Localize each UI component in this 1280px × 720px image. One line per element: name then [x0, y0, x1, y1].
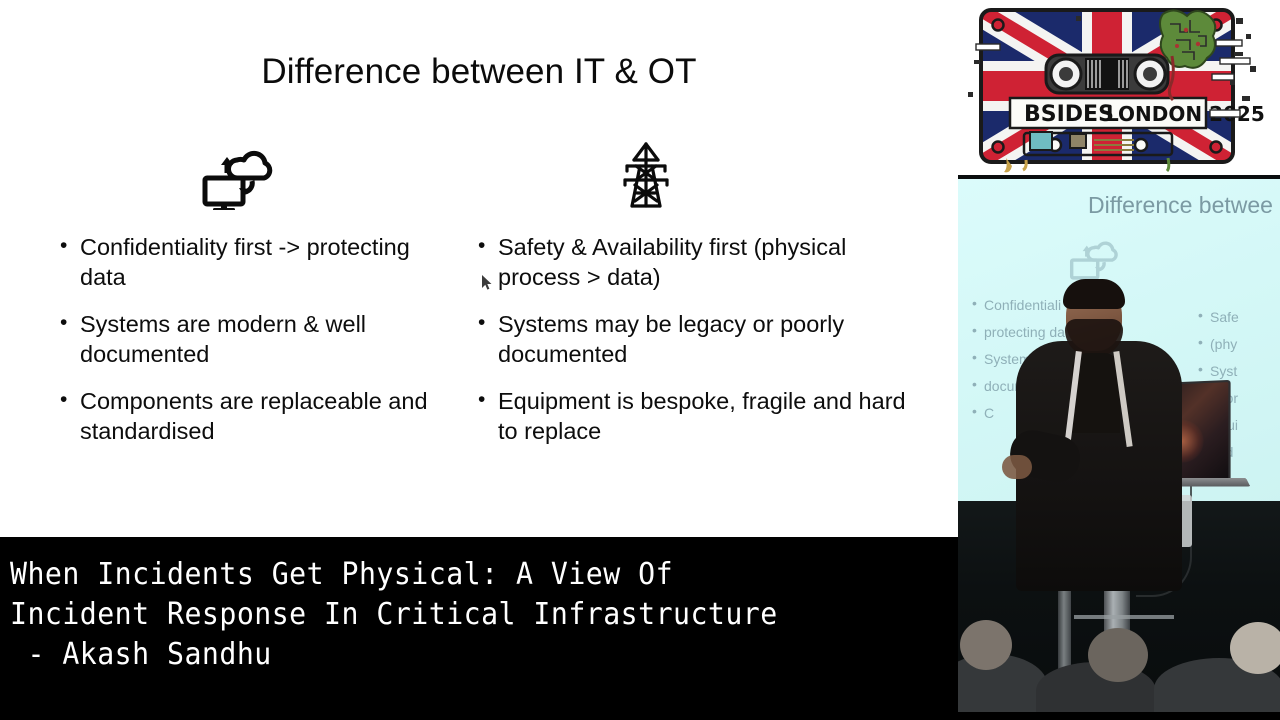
talk-title-caption-bar: When Incidents Get Physical: A View Of I… — [0, 537, 958, 720]
speaker-person — [1032, 283, 1170, 583]
slide-column-ot: Safety & Availability first (physical pr… — [470, 132, 910, 463]
caption-line-2: Incident Response In Critical Infrastruc… — [10, 595, 901, 635]
list-item: Safety & Availability first (physical pr… — [470, 232, 910, 292]
projected-slide-title: Difference betwee — [1088, 192, 1273, 219]
event-logo-panel: BSIDES LONDON 2025 — [958, 0, 1280, 175]
video-letterbox-bar — [958, 712, 1280, 720]
slide-bullet-list-ot: Safety & Availability first (physical pr… — [470, 232, 910, 446]
presentation-slide: Difference between IT & OT — [0, 0, 958, 537]
computer-cloud-sync-icon-wrap — [52, 132, 462, 218]
logo-text-bsides: BSIDES — [1024, 102, 1114, 127]
speaker-camera-feed: Difference betwee Confidentiali -> prote… — [958, 175, 1280, 720]
electricity-pylon-icon — [618, 140, 674, 210]
bsides-london-cassette-logo: BSIDES LONDON 2025 — [958, 0, 1280, 175]
list-item: Syst — [1196, 363, 1280, 380]
projected-computer-cloud-icon — [1068, 234, 1122, 282]
truss-brace — [1074, 615, 1174, 619]
logo-text-london-2025: LONDON 2025 — [1106, 102, 1265, 126]
slide-column-it: Confidentiality first -> protecting data… — [52, 132, 462, 463]
audience-head — [1088, 628, 1148, 682]
list-item: Systems may be legacy or poorly document… — [470, 309, 910, 369]
list-item: Components are replaceable and standardi… — [52, 386, 462, 446]
slide-title: Difference between IT & OT — [0, 52, 958, 92]
list-item: Confidentiality first -> protecting data — [52, 232, 462, 292]
slide-bullet-list-it: Confidentiality first -> protecting data… — [52, 232, 462, 446]
presentation-recording-frame: Difference between IT & OT — [0, 0, 1280, 720]
speaker-hand — [1002, 455, 1032, 479]
list-item: Safe — [1196, 309, 1280, 326]
list-item-cont: (phy — [1196, 336, 1280, 353]
list-item: Equipment is bespoke, fragile and hard t… — [470, 386, 910, 446]
computer-cloud-sync-icon — [200, 140, 278, 210]
caption-line-3: - Akash Sandhu — [10, 635, 901, 675]
audience-head — [960, 620, 1012, 670]
cassette-tape-window — [1046, 55, 1168, 93]
list-item: Systems are modern & well documented — [52, 309, 462, 369]
audience-head — [1230, 622, 1280, 674]
electricity-pylon-icon-wrap — [470, 132, 910, 218]
caption-line-1: When Incidents Get Physical: A View Of — [10, 555, 901, 595]
speaker-hair — [1063, 279, 1125, 309]
